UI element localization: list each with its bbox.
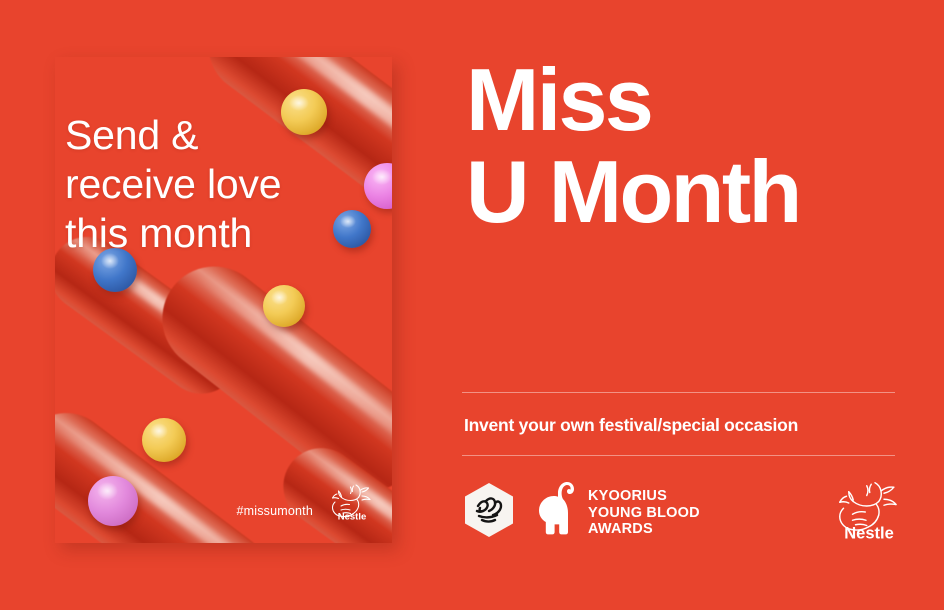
- svg-text:Nestle: Nestle: [338, 512, 367, 522]
- poster-footer: #missumonth: [55, 481, 378, 521]
- page-subtitle: Invent your own festival/special occasio…: [464, 415, 904, 436]
- svg-text:Nestle: Nestle: [844, 524, 894, 540]
- logo-row: KYOORIUS YOUNG BLOOD AWARDS: [460, 478, 900, 544]
- elephant-icon: [528, 480, 578, 538]
- poster-hashtag: #missumonth: [236, 504, 313, 521]
- poster-surface: Send & receive love this month #missumon…: [55, 57, 392, 543]
- kyoorius-hexagon-badge-icon: [463, 482, 515, 538]
- divider-bottom: [462, 455, 895, 456]
- poster-headline: Send & receive love this month: [65, 111, 415, 258]
- poster-artwork: Send & receive love this month #missumon…: [55, 57, 392, 543]
- page-title: Miss U Month: [466, 54, 916, 238]
- nestle-logo-icon: Nestle Nestle: [326, 481, 378, 521]
- sphere-yellow-center: [263, 285, 305, 327]
- kyoorius-lockup: KYOORIUS YOUNG BLOOD AWARDS: [528, 480, 700, 538]
- kyoorius-awards-label: KYOORIUS YOUNG BLOOD AWARDS: [588, 480, 700, 538]
- poster-entry-canvas: Send & receive love this month #missumon…: [0, 0, 944, 610]
- sphere-yellow-low: [142, 418, 186, 462]
- nestle-logo-main-icon: Nestle: [830, 478, 908, 540]
- divider-top: [462, 392, 895, 393]
